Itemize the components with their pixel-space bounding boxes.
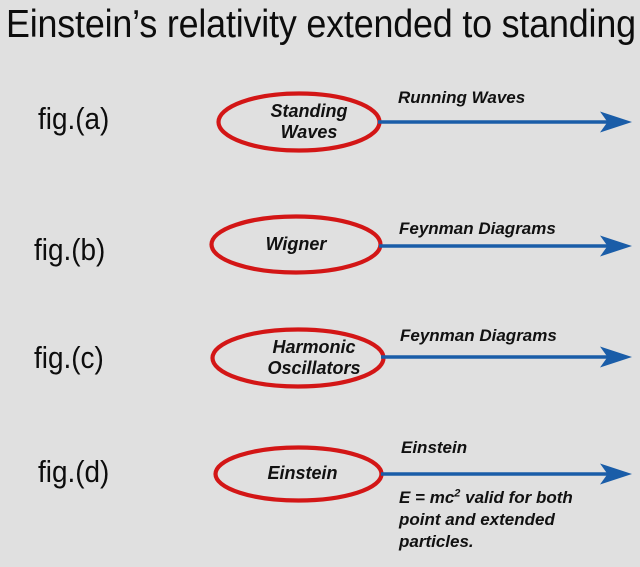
arrow-d <box>381 463 632 485</box>
equation-line-3: particles. <box>399 531 637 553</box>
node-label-b-line1: Wigner <box>266 234 327 255</box>
arrow-label-d: Einstein <box>401 438 467 458</box>
node-label-c-line1: Harmonic <box>272 337 355 358</box>
arrow-c <box>381 346 632 368</box>
node-label-a-line2: Waves <box>281 122 338 143</box>
equation-lead: E = mc <box>399 488 454 507</box>
arrow-a <box>378 111 632 133</box>
node-label-a: Standing Waves <box>216 91 392 153</box>
node-label-d: Einstein <box>213 445 388 503</box>
arrow-label-a: Running Waves <box>398 88 525 108</box>
fig-label-c: fig.(c) <box>34 340 104 376</box>
node-label-b: Wigner <box>209 214 383 275</box>
node-ellipse-a[interactable]: Standing Waves <box>216 91 382 153</box>
node-label-a-line1: Standing <box>271 101 348 122</box>
equation-line-1: E = mc2 valid for both <box>399 487 637 509</box>
node-label-d-line1: Einstein <box>267 463 337 484</box>
arrow-label-c: Feynman Diagrams <box>400 326 557 346</box>
equation-caption: E = mc2 valid for both point and extende… <box>399 487 637 552</box>
fig-label-b: fig.(b) <box>34 232 105 268</box>
node-label-c: Harmonic Oscillators <box>210 327 402 389</box>
node-label-c-line2: Oscillators <box>267 358 360 379</box>
fig-label-d: fig.(d) <box>38 454 109 490</box>
arrow-b <box>379 235 632 257</box>
equation-rest: valid for both <box>460 488 572 507</box>
page-title: Einstein’s relativity extended to standi… <box>6 2 584 48</box>
node-ellipse-b[interactable]: Wigner <box>209 214 383 275</box>
fig-label-a: fig.(a) <box>38 101 109 137</box>
node-ellipse-c[interactable]: Harmonic Oscillators <box>210 327 386 389</box>
equation-line-2: point and extended <box>399 509 637 531</box>
node-ellipse-d[interactable]: Einstein <box>213 445 384 503</box>
slide-canvas: Einstein’s relativity extended to standi… <box>0 0 640 567</box>
